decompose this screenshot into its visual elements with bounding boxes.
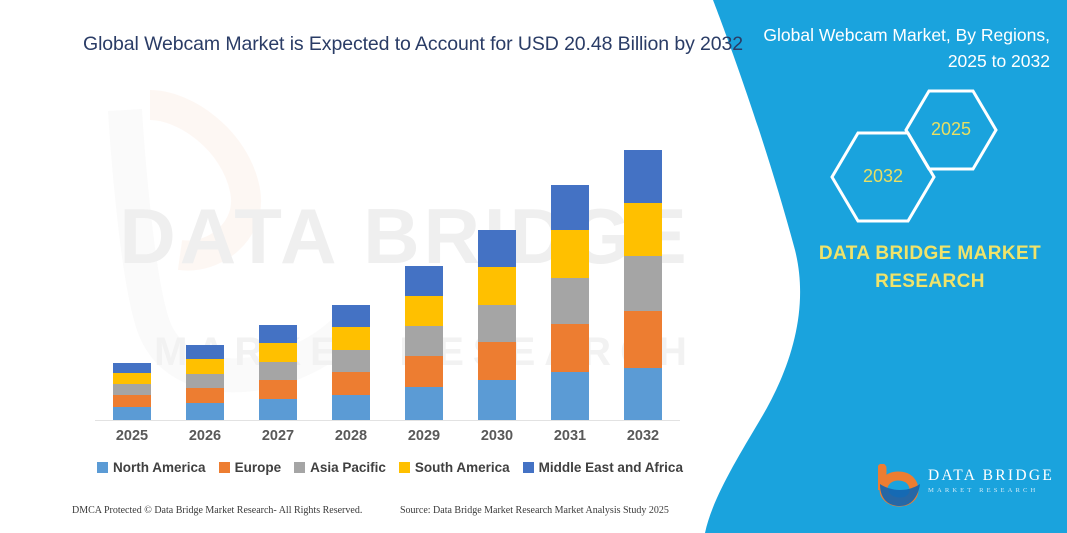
footer: DMCA Protected © Data Bridge Market Rese…	[0, 505, 700, 527]
chart-legend: North AmericaEuropeAsia PacificSouth Ame…	[95, 457, 685, 477]
bar-segment	[405, 266, 443, 296]
logo-subtitle: MARKET RESEARCH	[928, 488, 1058, 495]
brand-wordmark: DATA BRIDGE MARKET RESEARCH	[790, 240, 1067, 295]
legend-item[interactable]: Asia Pacific	[294, 460, 386, 475]
bar-segment	[405, 296, 443, 326]
x-axis-label-2027: 2027	[240, 428, 316, 444]
bar-segment	[405, 387, 443, 420]
bar-segment	[405, 356, 443, 387]
bar-segment	[332, 350, 370, 372]
bar-segment	[332, 327, 370, 350]
legend-item[interactable]: South America	[399, 460, 510, 475]
legend-item[interactable]: Europe	[219, 460, 282, 475]
bar-column-2032	[624, 150, 662, 420]
bar-segment	[186, 345, 224, 359]
bar-column-2031	[551, 185, 589, 420]
hexagon-badge-2032: 2032	[829, 130, 937, 224]
legend-label: North America	[113, 460, 206, 475]
x-axis-label-2025: 2025	[94, 428, 170, 444]
x-axis-label-2026: 2026	[167, 428, 243, 444]
x-axis-label-2030: 2030	[459, 428, 535, 444]
x-axis-tick-labels: 20252026202720282029203020312032	[95, 428, 685, 450]
infographic-canvas: DATA BRIDGE MARKET RESEARCH Global Webca…	[0, 0, 1067, 533]
right-panel-title-line1: Global Webcam Market, By Regions,	[740, 22, 1050, 48]
footer-source: Source: Data Bridge Market Research Mark…	[400, 505, 669, 516]
bar-segment	[332, 395, 370, 420]
data-bridge-logo-icon	[878, 464, 924, 508]
bar-segment	[478, 230, 516, 267]
hexagon-badge-2032-label: 2032	[829, 166, 937, 187]
stacked-bar-group	[95, 110, 685, 420]
hexagon-badges: 2025 2032	[815, 88, 1015, 208]
bar-column-2026	[186, 345, 224, 420]
bar-segment	[624, 368, 662, 420]
page-title: Global Webcam Market is Expected to Acco…	[83, 33, 723, 56]
bar-segment	[113, 395, 151, 407]
bar-segment	[551, 324, 589, 372]
chart-plot-area	[95, 110, 685, 422]
bar-segment	[551, 185, 589, 230]
legend-label: Asia Pacific	[310, 460, 386, 475]
legend-swatch-icon	[294, 462, 305, 473]
bar-segment	[478, 380, 516, 420]
footer-copyright: DMCA Protected © Data Bridge Market Rese…	[72, 505, 362, 516]
bar-segment	[478, 342, 516, 380]
x-axis-label-2029: 2029	[386, 428, 462, 444]
bar-segment	[113, 407, 151, 420]
bar-column-2028	[332, 305, 370, 420]
x-axis-label-2028: 2028	[313, 428, 389, 444]
logo-title: DATA BRIDGE	[928, 468, 1058, 484]
bar-segment	[186, 359, 224, 374]
x-axis-line	[95, 420, 680, 421]
bar-segment	[259, 380, 297, 399]
bar-segment	[186, 388, 224, 403]
bar-segment	[259, 325, 297, 343]
x-axis-label-2032: 2032	[605, 428, 681, 444]
right-panel-title-line2: 2025 to 2032	[740, 48, 1050, 74]
legend-swatch-icon	[399, 462, 410, 473]
bar-segment	[624, 311, 662, 368]
right-panel-title: Global Webcam Market, By Regions, 2025 t…	[740, 22, 1050, 75]
bar-segment	[332, 372, 370, 395]
legend-item[interactable]: Middle East and Africa	[523, 460, 683, 475]
company-logo: DATA BRIDGE MARKET RESEARCH	[878, 462, 1058, 512]
x-axis-label-2031: 2031	[532, 428, 608, 444]
legend-swatch-icon	[97, 462, 108, 473]
bar-segment	[113, 373, 151, 384]
logo-text: DATA BRIDGE MARKET RESEARCH	[928, 468, 1058, 494]
legend-swatch-icon	[219, 462, 230, 473]
bar-segment	[332, 305, 370, 327]
bar-segment	[405, 326, 443, 356]
bar-segment	[186, 403, 224, 420]
legend-label: South America	[415, 460, 510, 475]
bar-segment	[478, 267, 516, 305]
bar-segment	[624, 256, 662, 311]
bar-segment	[259, 399, 297, 420]
bar-column-2027	[259, 325, 297, 420]
bar-segment	[113, 384, 151, 395]
bar-segment	[478, 305, 516, 342]
bar-segment	[186, 374, 224, 388]
bar-segment	[113, 363, 151, 373]
bar-column-2029	[405, 266, 443, 420]
legend-swatch-icon	[523, 462, 534, 473]
legend-label: Middle East and Africa	[539, 460, 683, 475]
brand-line1: DATA BRIDGE MARKET	[790, 240, 1067, 268]
legend-label: Europe	[235, 460, 282, 475]
bar-segment	[624, 150, 662, 203]
bar-segment	[551, 372, 589, 420]
bar-segment	[551, 278, 589, 324]
bar-segment	[259, 343, 297, 362]
brand-line2: RESEARCH	[790, 268, 1067, 296]
bar-segment	[551, 230, 589, 278]
bar-segment	[624, 203, 662, 256]
bar-column-2025	[113, 363, 151, 420]
legend-item[interactable]: North America	[97, 460, 206, 475]
bar-column-2030	[478, 230, 516, 420]
bar-segment	[259, 362, 297, 380]
